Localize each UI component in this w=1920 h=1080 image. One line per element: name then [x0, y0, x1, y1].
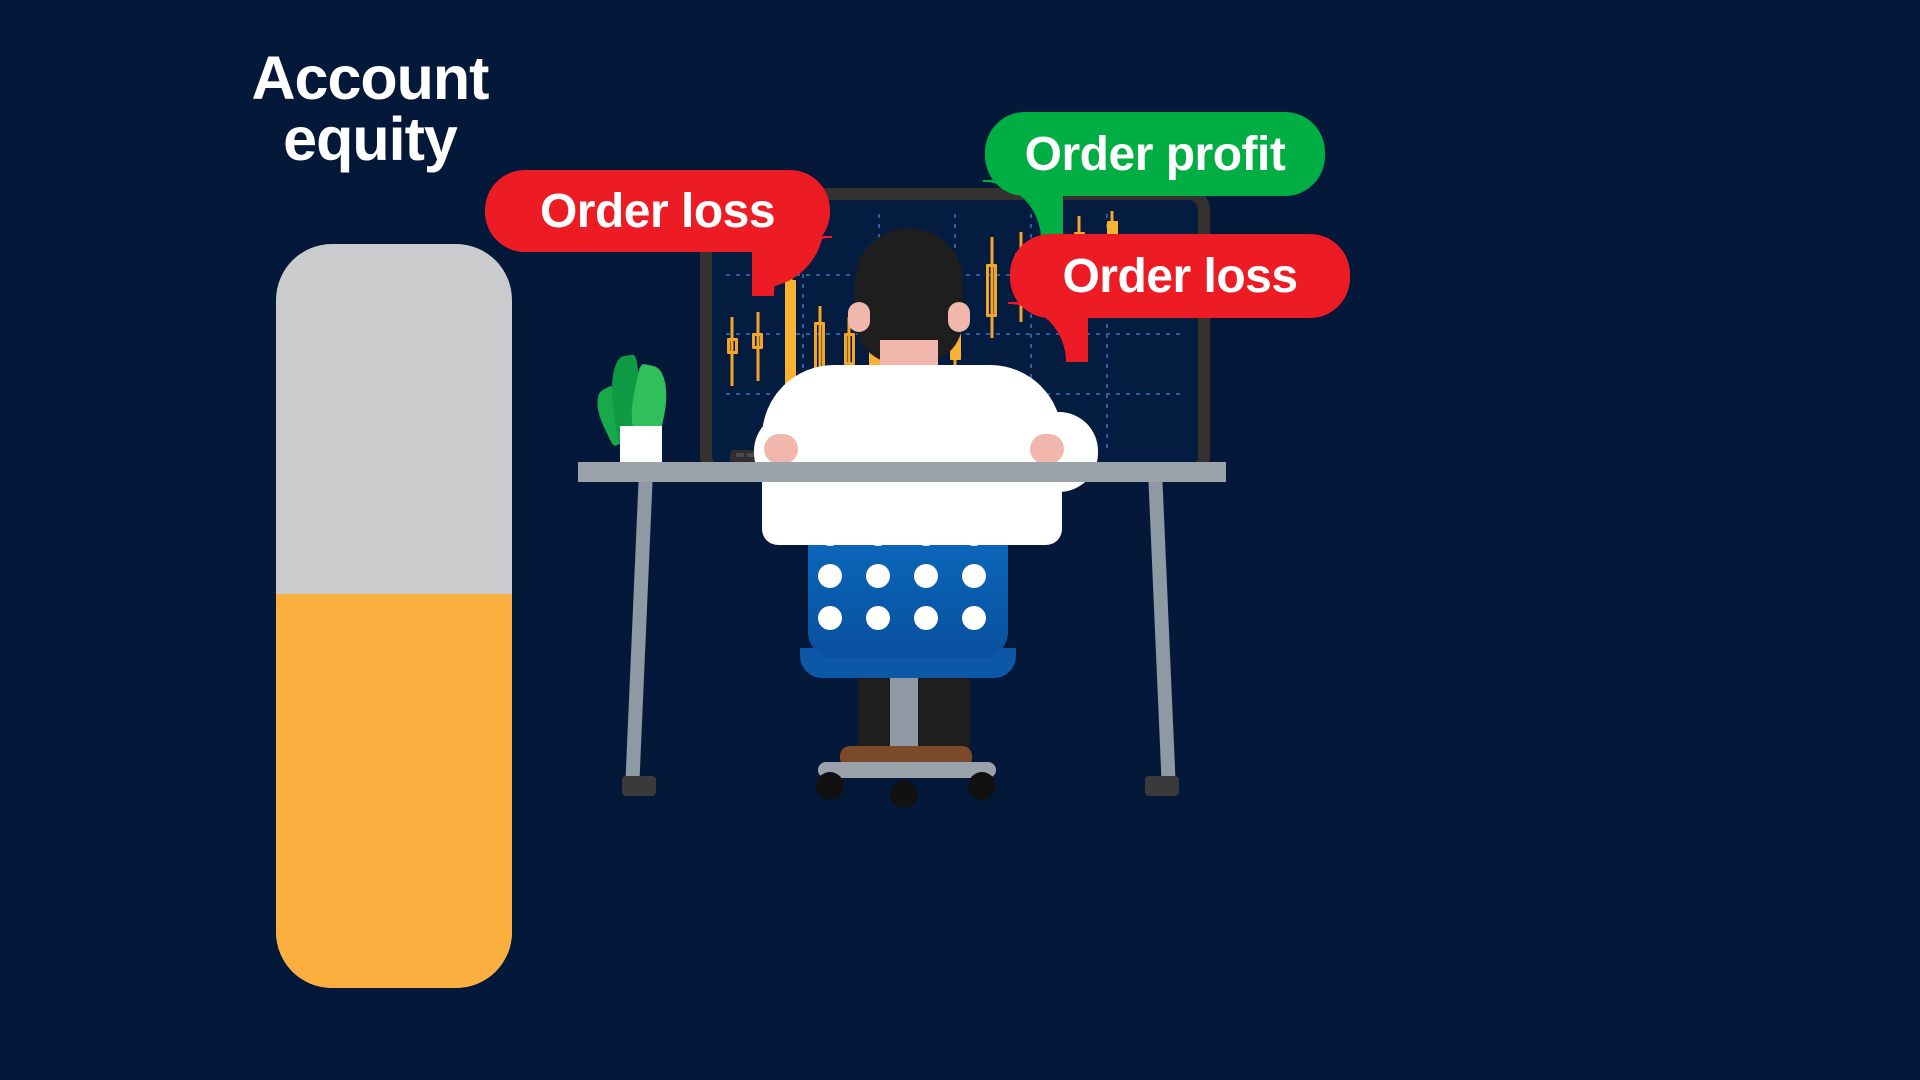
chair-dot [914, 606, 938, 630]
person-ear [948, 302, 970, 332]
chair-dot [818, 564, 842, 588]
bubble-order-profit[interactable]: Order profit [985, 112, 1325, 196]
desk-top [578, 462, 1226, 482]
chair-caster [890, 780, 918, 808]
bubble-label: Order profit [1025, 127, 1286, 182]
chair-dot [866, 564, 890, 588]
bubble-order-loss-left[interactable]: Order loss [485, 170, 830, 252]
chair-dot [962, 564, 986, 588]
bubble-label: Order loss [540, 184, 775, 239]
bubble-label: Order loss [1062, 249, 1297, 304]
chair-caster [816, 772, 844, 800]
person-hand-right [1030, 434, 1064, 464]
chair-base [818, 762, 996, 778]
person-hand-left [764, 434, 798, 464]
desk-leg [625, 482, 652, 780]
person-ear [848, 302, 870, 332]
desk-leg [1148, 482, 1175, 780]
chair-dot [818, 606, 842, 630]
desk-foot [1145, 776, 1179, 796]
illustration-canvas: Account equity [0, 0, 1920, 1080]
chair-caster [968, 772, 996, 800]
bubble-order-loss-right[interactable]: Order loss [1010, 234, 1350, 318]
bubble-tail [752, 236, 832, 296]
account-equity-bar [276, 244, 512, 988]
chair-dot [866, 606, 890, 630]
account-equity-bar-fill [276, 594, 512, 988]
bubble-tail [1008, 302, 1088, 362]
desk-foot [622, 776, 656, 796]
chair-dot [962, 606, 986, 630]
chair-dot [914, 564, 938, 588]
page-title: Account equity [160, 48, 580, 170]
bubble-tail [983, 180, 1063, 240]
